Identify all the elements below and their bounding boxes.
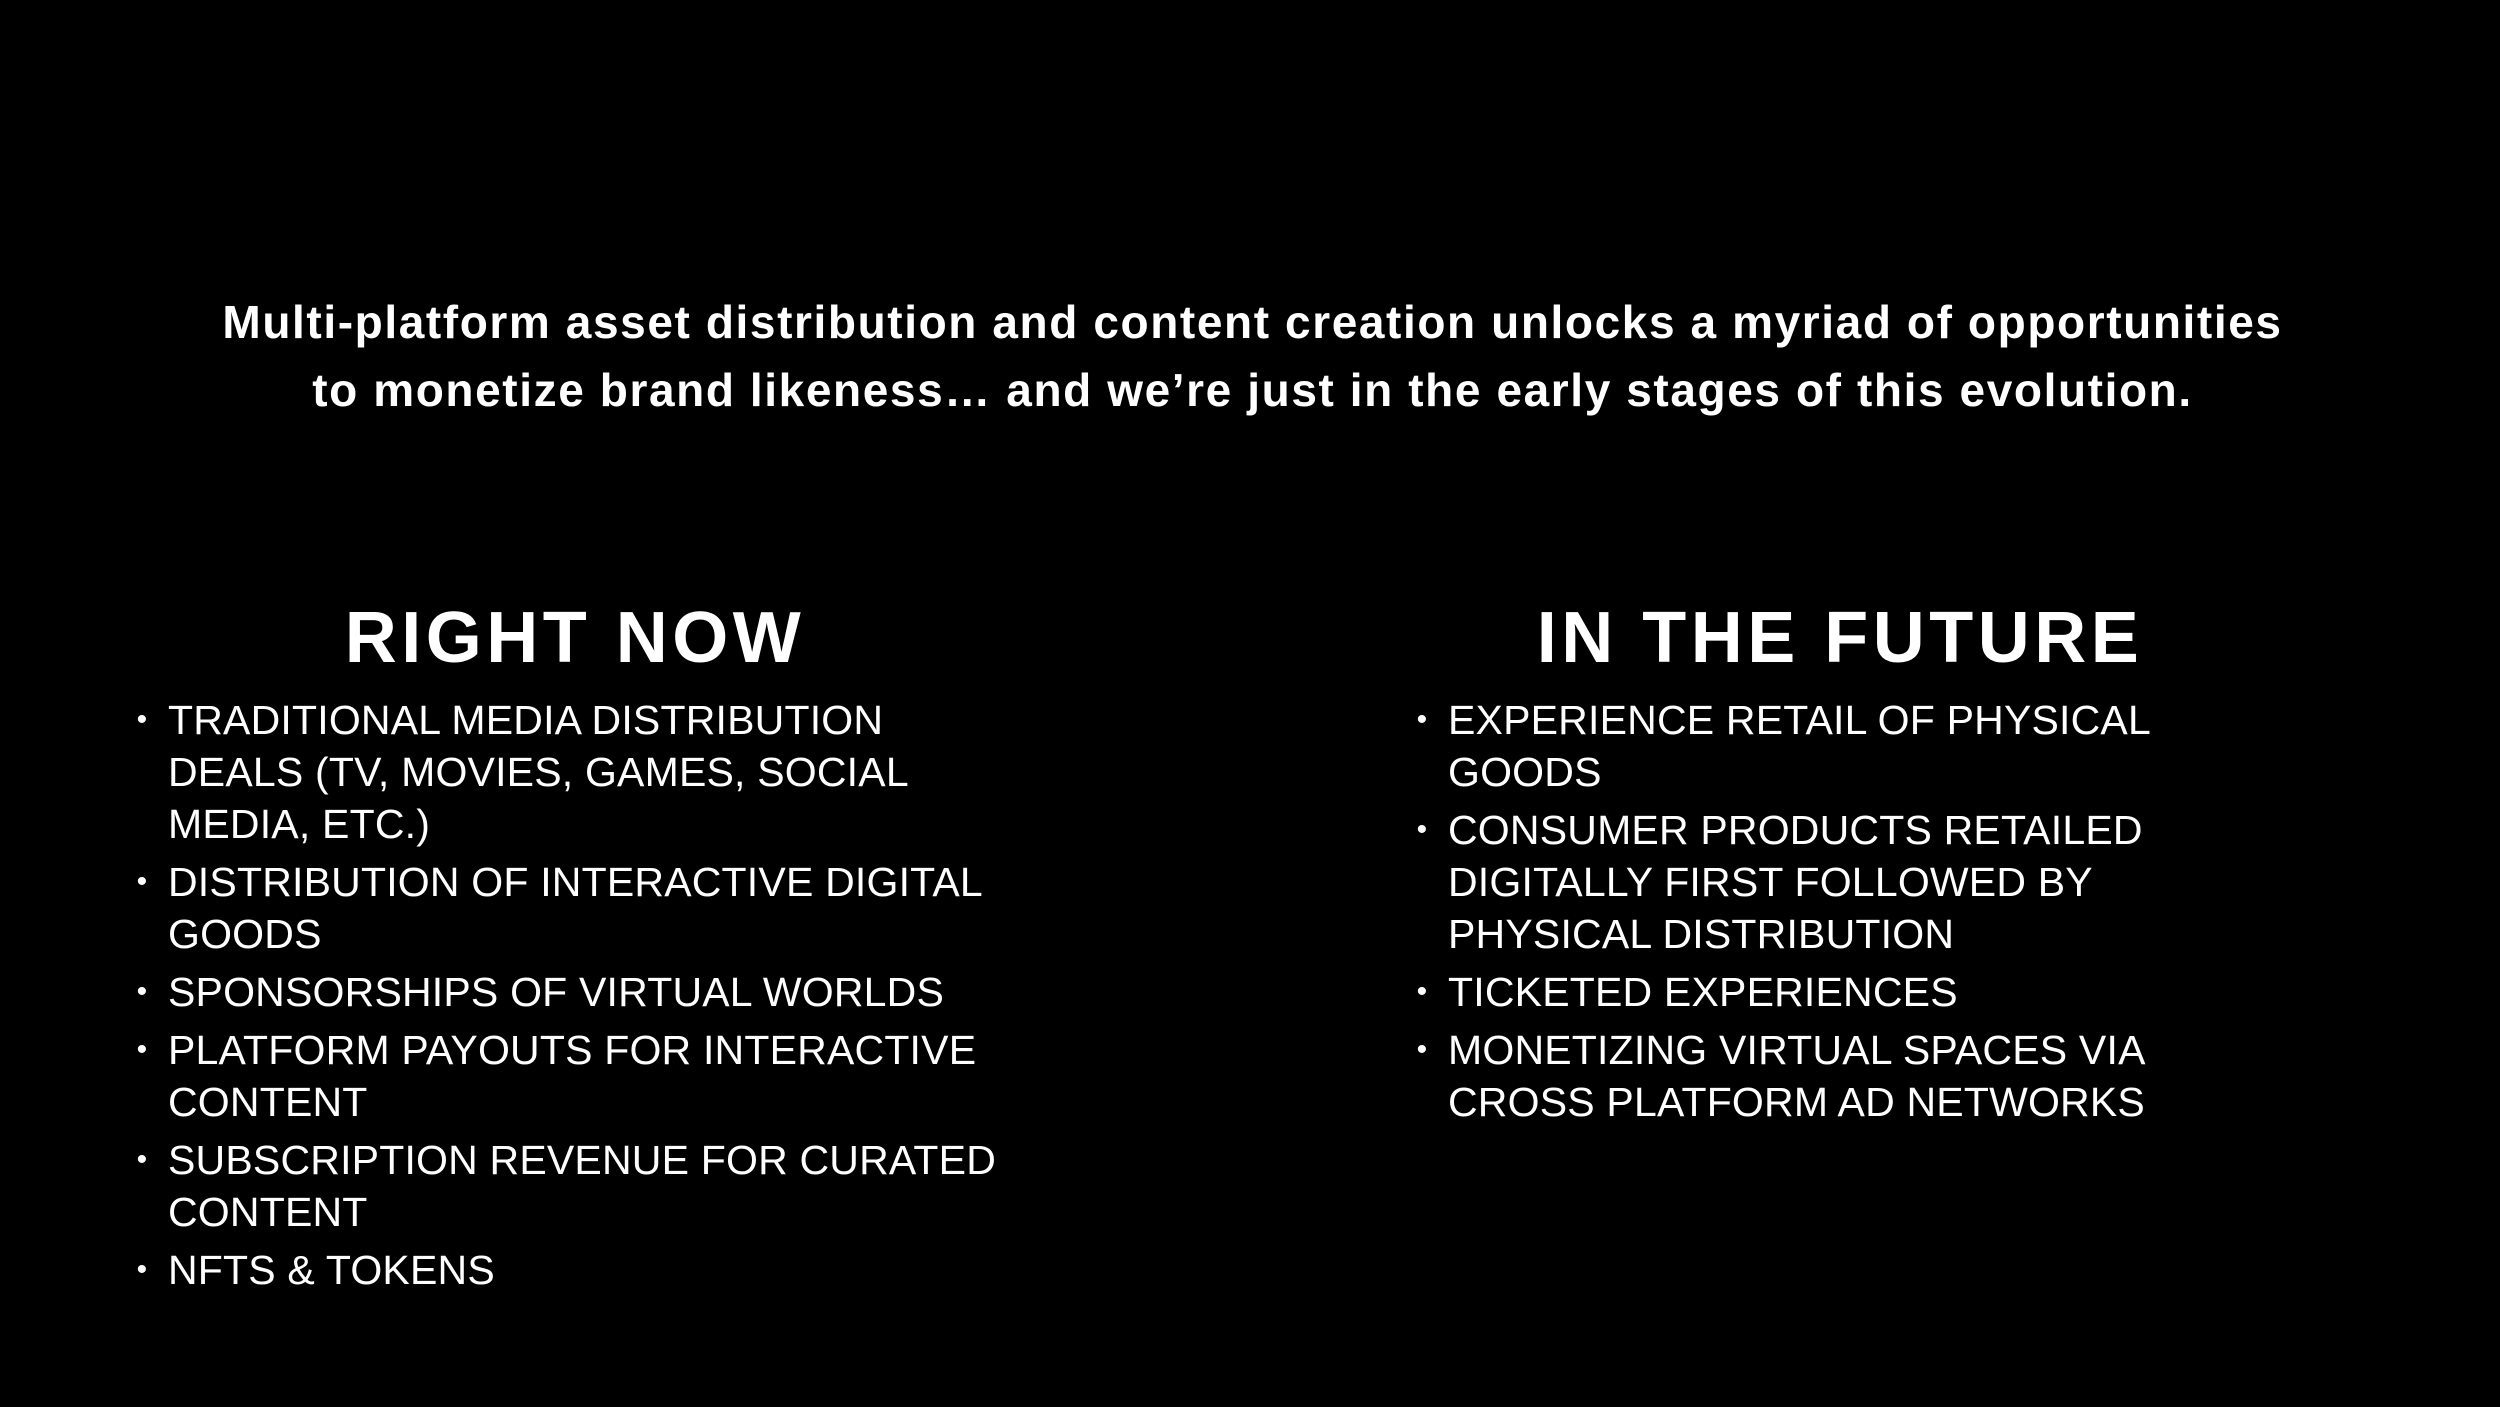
list-item-label: TRADITIONAL MEDIA DISTRIBUTION DEALS (TV… <box>168 694 1010 850</box>
column-heading-in-the-future: IN THE FUTURE <box>1390 596 2290 680</box>
list-item: •CONSUMER PRODUCTS RETAILED DIGITALLY FI… <box>1390 804 2290 960</box>
list-item: •SUBSCRIPTION REVENUE FOR CURATED CONTEN… <box>110 1134 1010 1238</box>
bullet-dot-icon: • <box>132 1134 152 1186</box>
list-item-label: CONSUMER PRODUCTS RETAILED DIGITALLY FIR… <box>1448 804 2290 960</box>
list-item-label: DISTRIBUTION OF INTERACTIVE DIGITAL GOOD… <box>168 856 1010 960</box>
list-item-label: SPONSORSHIPS OF VIRTUAL WORLDS <box>168 966 1010 1018</box>
column-right-now: RIGHT NOW •TRADITIONAL MEDIA DISTRIBUTIO… <box>110 596 1240 1302</box>
list-item-label: EXPERIENCE RETAIL OF PHYSICAL GOODS <box>1448 694 2290 798</box>
bullet-dot-icon: • <box>132 1024 152 1076</box>
bullet-dot-icon: • <box>1412 1024 1432 1076</box>
list-item-label: TICKETED EXPERIENCES <box>1448 966 2290 1018</box>
list-item-label: NFTS & TOKENS <box>168 1244 1010 1296</box>
column-heading-right-now: RIGHT NOW <box>125 596 1025 680</box>
presentation-slide: Multi-platform asset distribution and co… <box>0 0 2500 1407</box>
list-item: •EXPERIENCE RETAIL OF PHYSICAL GOODS <box>1390 694 2290 798</box>
bullet-dot-icon: • <box>132 694 152 746</box>
list-item: •MONETIZING VIRTUAL SPACES VIA CROSS PLA… <box>1390 1024 2290 1128</box>
bullet-list-right-now: •TRADITIONAL MEDIA DISTRIBUTION DEALS (T… <box>110 694 1010 1296</box>
bullet-dot-icon: • <box>132 856 152 908</box>
list-item-label: SUBSCRIPTION REVENUE FOR CURATED CONTENT <box>168 1134 1010 1238</box>
bullet-dot-icon: • <box>1412 966 1432 1018</box>
list-item: •SPONSORSHIPS OF VIRTUAL WORLDS <box>110 966 1010 1018</box>
list-item: •PLATFORM PAYOUTS FOR INTERACTIVE CONTEN… <box>110 1024 1010 1128</box>
column-in-the-future: IN THE FUTURE •EXPERIENCE RETAIL OF PHYS… <box>1390 596 2500 1134</box>
bullet-dot-icon: • <box>132 1244 152 1296</box>
bullet-dot-icon: • <box>1412 804 1432 856</box>
slide-headline: Multi-platform asset distribution and co… <box>215 288 2290 424</box>
bullet-dot-icon: • <box>132 966 152 1018</box>
bullet-dot-icon: • <box>1412 694 1432 746</box>
list-item: •TRADITIONAL MEDIA DISTRIBUTION DEALS (T… <box>110 694 1010 850</box>
list-item: •NFTS & TOKENS <box>110 1244 1010 1296</box>
list-item: •DISTRIBUTION OF INTERACTIVE DIGITAL GOO… <box>110 856 1010 960</box>
list-item: •TICKETED EXPERIENCES <box>1390 966 2290 1018</box>
list-item-label: PLATFORM PAYOUTS FOR INTERACTIVE CONTENT <box>168 1024 1010 1128</box>
list-item-label: MONETIZING VIRTUAL SPACES VIA CROSS PLAT… <box>1448 1024 2290 1128</box>
two-column-body: RIGHT NOW •TRADITIONAL MEDIA DISTRIBUTIO… <box>0 596 2500 1356</box>
bullet-list-in-the-future: •EXPERIENCE RETAIL OF PHYSICAL GOODS•CON… <box>1390 694 2290 1128</box>
